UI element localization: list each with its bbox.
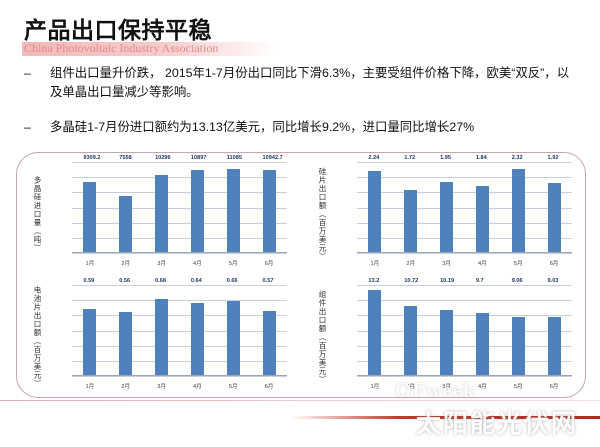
bar-group: 9.7	[471, 285, 495, 376]
chart-y-axis-label: 电池片出口额（百万美元）	[32, 286, 42, 388]
chart-plot-area: 0.590.560.680.640.660.57	[72, 285, 287, 376]
bar: 1.72	[404, 190, 417, 253]
bar: 10296	[155, 175, 168, 253]
x-tick-label: 5月	[221, 382, 245, 390]
x-tick-label: 2月	[399, 382, 423, 390]
bar-group: 10.72	[399, 285, 423, 376]
bar: 9.06	[512, 317, 525, 376]
chart-bars: 13.210.7210.199.79.069.03	[357, 285, 572, 376]
bar: 10.19	[440, 310, 453, 376]
x-tick-label: 1月	[78, 259, 102, 267]
bar-value-label: 9309.2	[83, 155, 100, 161]
bar-value-label: 1.72	[404, 155, 415, 161]
chart-plot-area: 2.241.721.951.842.321.92	[357, 162, 572, 253]
chart-bars: 0.590.560.680.640.660.57	[72, 285, 287, 376]
chart-bars: 2.241.721.951.842.321.92	[357, 162, 572, 253]
bar-group: 0.68	[150, 285, 174, 376]
footer-divider-light	[0, 400, 600, 401]
x-tick-label: 6月	[542, 382, 566, 390]
bar-value-label: 0.68	[155, 278, 166, 284]
bar: 10.72	[404, 306, 417, 376]
bar-group: 2.24	[363, 162, 387, 253]
slide: 产品出口保持平稳 China Photovoltaic Industry Ass…	[0, 0, 600, 447]
bar-group: 2.32	[506, 162, 530, 253]
bar-value-label: 10296	[155, 155, 171, 161]
chart-cell-export-value: 电池片出口额（百万美元）0.590.560.680.640.660.571月2月…	[16, 275, 301, 398]
gridline	[357, 253, 572, 254]
x-tick-label: 3月	[435, 382, 459, 390]
bar: 0.64	[191, 303, 204, 376]
bar-value-label: 9.06	[512, 278, 523, 284]
bar-value-label: 1.92	[548, 155, 559, 161]
x-tick-label: 3月	[435, 259, 459, 267]
bar-value-label: 0.56	[119, 278, 130, 284]
bar: 0.56	[119, 312, 132, 376]
chart-x-tick-labels: 1月2月3月4月5月6月	[357, 380, 572, 392]
x-tick-label: 5月	[221, 259, 245, 267]
footer-divider-red	[290, 416, 600, 419]
bar-value-label: 9.7	[476, 278, 484, 284]
bar-value-label: 7558	[119, 155, 131, 161]
bar-value-label: 11085	[227, 155, 242, 161]
bar-group: 1.95	[435, 162, 459, 253]
x-tick-label: 2月	[114, 259, 138, 267]
bar-value-label: 10942.7	[263, 155, 283, 161]
bar: 1.92	[548, 183, 561, 253]
bar-group: 13.2	[363, 285, 387, 376]
bar: 0.66	[227, 301, 240, 376]
x-tick-label: 4月	[471, 382, 495, 390]
x-tick-label: 5月	[506, 382, 530, 390]
bar-group: 1.84	[471, 162, 495, 253]
bar-value-label: 10897	[191, 155, 207, 161]
x-tick-label: 4月	[471, 259, 495, 267]
chart-plot-area: 9309.2755810296108971108510942.7	[72, 162, 287, 253]
bar-value-label: 13.2	[368, 278, 379, 284]
bar-value-label: 2.24	[368, 155, 379, 161]
bullet-marker: –	[24, 64, 31, 83]
bar-group: 0.56	[114, 285, 138, 376]
charts-grid: 多晶硅进口量（吨）9309.2755810296108971108510942.…	[16, 152, 586, 398]
bar-value-label: 10.19	[440, 278, 454, 284]
x-tick-label: 3月	[150, 382, 174, 390]
x-tick-label: 2月	[399, 259, 423, 267]
bar-value-label: 9.03	[548, 278, 559, 284]
bar: 9309.2	[83, 182, 96, 253]
bar: 9.7	[476, 313, 489, 376]
bar-value-label: 0.66	[227, 278, 238, 284]
chart-bars: 9309.2755810296108971108510942.7	[72, 162, 287, 253]
bar-group: 0.59	[78, 285, 102, 376]
gridline	[72, 376, 287, 377]
bar-group: 10897	[186, 162, 210, 253]
bar-group: 0.57	[257, 285, 281, 376]
bullet-text: 多晶硅1-7月份进口额约为13.13亿美元，同比增长9.2%，进口量同比增长27…	[50, 118, 574, 137]
chart-x-axis	[357, 252, 572, 253]
bullet-item: – 组件出口量升价跌， 2015年1-7月份出口同比下滑6.3%，主要受组件价格…	[24, 64, 574, 102]
x-tick-label: 4月	[186, 382, 210, 390]
watermark-brand-cn: 太阳能光伏网	[416, 404, 578, 440]
bar-value-label: 1.84	[476, 155, 487, 161]
x-tick-label: 1月	[363, 259, 387, 267]
chart-y-axis-label: 硅片出口额（百万美元）	[317, 167, 327, 261]
bar: 2.24	[368, 171, 381, 253]
x-tick-label: 1月	[363, 382, 387, 390]
bar-value-label: 2.32	[512, 155, 523, 161]
bar-value-label: 10.72	[404, 278, 418, 284]
bar-group: 9.06	[506, 285, 530, 376]
x-tick-label: 4月	[186, 259, 210, 267]
bullet-marker: –	[24, 118, 31, 137]
bar-group: 9309.2	[78, 162, 102, 253]
bar-group: 7558	[114, 162, 138, 253]
chart-wafer-export-value: 硅片出口额（百万美元）2.241.721.951.842.321.921月2月3…	[301, 152, 586, 275]
bar-group: 1.92	[542, 162, 566, 253]
bar: 11085	[227, 169, 240, 253]
bar-group: 0.64	[186, 285, 210, 376]
bar: 10897	[191, 170, 204, 253]
bar: 10942.7	[263, 170, 276, 253]
gridline	[72, 253, 287, 254]
bar: 1.95	[440, 182, 453, 253]
bar: 0.57	[263, 311, 276, 376]
bar: 0.68	[155, 299, 168, 376]
chart-module-export-value: 组件出口额（百万美元）13.210.7210.199.79.069.031月2月…	[301, 275, 586, 398]
gridline	[357, 376, 572, 377]
bar: 7558	[119, 196, 132, 253]
x-tick-label: 6月	[542, 259, 566, 267]
page-title: 产品出口保持平稳	[24, 11, 212, 45]
x-tick-label: 3月	[150, 259, 174, 267]
x-tick-label: 6月	[257, 259, 281, 267]
bar: 13.2	[368, 290, 381, 376]
bar-value-label: 0.59	[83, 278, 94, 284]
bar: 9.03	[548, 317, 561, 376]
bar-group: 9.03	[542, 285, 566, 376]
bar-group: 10942.7	[257, 162, 281, 253]
bar-group: 10296	[150, 162, 174, 253]
x-tick-label: 5月	[506, 259, 530, 267]
chart-x-axis	[72, 375, 287, 376]
bar: 0.59	[83, 309, 96, 376]
bar-group: 11085	[221, 162, 245, 253]
x-tick-label: 6月	[257, 382, 281, 390]
chart-polysilicon-import-volume: 多晶硅进口量（吨）9309.2755810296108971108510942.…	[16, 152, 301, 275]
bar-group: 1.72	[399, 162, 423, 253]
chart-y-axis-label: 组件出口额（百万美元）	[317, 290, 327, 384]
bar: 1.84	[476, 186, 489, 253]
chart-x-tick-labels: 1月2月3月4月5月6月	[72, 257, 287, 269]
bar-value-label: 0.57	[263, 278, 274, 284]
chart-x-tick-labels: 1月2月3月4月5月6月	[357, 257, 572, 269]
bar: 2.32	[512, 169, 525, 253]
chart-plot-area: 13.210.7210.199.79.069.03	[357, 285, 572, 376]
chart-x-axis	[357, 375, 572, 376]
x-tick-label: 1月	[78, 382, 102, 390]
chart-x-axis	[72, 252, 287, 253]
subtitle-text: China Photovoltaic Industry Association	[24, 41, 218, 56]
bullet-text: 组件出口量升价跌， 2015年1-7月份出口同比下滑6.3%，主要受组件价格下降…	[50, 64, 574, 102]
chart-y-axis-label: 多晶硅进口量（吨）	[32, 175, 42, 252]
x-tick-label: 2月	[114, 382, 138, 390]
bar-value-label: 0.64	[191, 278, 202, 284]
bar-group: 0.66	[221, 285, 245, 376]
bar-group: 10.19	[435, 285, 459, 376]
chart-x-tick-labels: 1月2月3月4月5月6月	[72, 380, 287, 392]
bullet-item: – 多晶硅1-7月份进口额约为13.13亿美元，同比增长9.2%，进口量同比增长…	[24, 118, 574, 137]
bar-value-label: 1.95	[440, 155, 451, 161]
